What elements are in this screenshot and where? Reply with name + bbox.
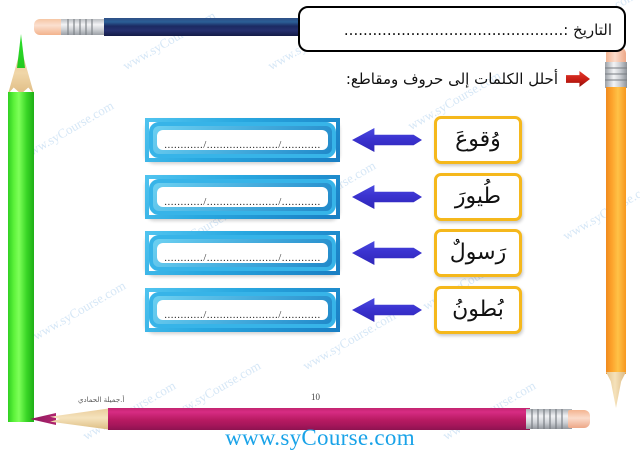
word-text: بُطونُ <box>452 299 504 321</box>
blue-left-arrow-icon <box>352 128 422 152</box>
blue-left-arrow-icon <box>352 241 422 265</box>
worksheet-page: www.syCourse.com www.syCourse.com www.sy… <box>0 0 640 453</box>
exercise-row: ............/....................../....… <box>145 172 545 222</box>
word-text: وُقوعَ <box>455 129 501 151</box>
page-number: 10 <box>311 392 320 402</box>
answer-box[interactable]: ............/....................../....… <box>145 118 340 162</box>
pencil-ferrule <box>61 19 105 35</box>
answer-dotted-line[interactable]: ............/....................../....… <box>159 252 326 264</box>
pencil-eraser <box>34 19 62 35</box>
answer-dotted-line[interactable]: ............/....................../....… <box>159 309 326 321</box>
pencil-body <box>606 87 626 374</box>
green-pencil-icon <box>8 22 34 422</box>
blue-left-arrow-icon <box>352 185 422 209</box>
watermark-text: www.syCourse.com <box>560 178 640 244</box>
date-label: التاريخ :...............................… <box>344 21 612 39</box>
answer-box[interactable]: ............/....................../....… <box>145 175 340 219</box>
author-signature: أ.جميلة الحمادي <box>78 396 124 404</box>
answer-dotted-line[interactable]: ............/....................../....… <box>159 139 326 151</box>
answer-box[interactable]: ............/....................../....… <box>145 231 340 275</box>
instruction-text: أحلل الكلمات إلى حروف ومقاطع: <box>346 70 558 88</box>
exercise-row: ............/....................../....… <box>145 285 545 335</box>
exercise-row: ............/....................../....… <box>145 115 545 165</box>
word-box: رَسولٌ <box>434 229 522 277</box>
red-right-arrow-icon <box>566 71 590 87</box>
orange-pencil-icon <box>604 48 628 408</box>
word-text: طُيورَ <box>455 186 501 208</box>
pencil-body <box>8 92 34 422</box>
pencil-lead <box>30 413 56 425</box>
date-field-box[interactable]: التاريخ :...............................… <box>298 6 626 52</box>
exercise-row: ............/....................../....… <box>145 228 545 278</box>
site-url-text: www.syCourse.com <box>0 425 640 451</box>
pencil-body <box>104 18 300 36</box>
instruction-row: أحلل الكلمات إلى حروف ومقاطع: <box>270 66 590 92</box>
word-box: بُطونُ <box>434 286 522 334</box>
answer-dotted-line[interactable]: ............/....................../....… <box>159 196 326 208</box>
blue-left-arrow-icon <box>352 298 422 322</box>
word-text: رَسولٌ <box>450 242 506 264</box>
answer-box[interactable]: ............/....................../....… <box>145 288 340 332</box>
pencil-lead <box>17 34 25 68</box>
word-box: طُيورَ <box>434 173 522 221</box>
pencil-ferrule <box>605 62 627 88</box>
pencil-wood-tip <box>606 372 626 408</box>
navy-pencil-icon <box>34 16 300 38</box>
word-box: وُقوعَ <box>434 116 522 164</box>
watermark-text: www.syCourse.com <box>30 278 129 344</box>
